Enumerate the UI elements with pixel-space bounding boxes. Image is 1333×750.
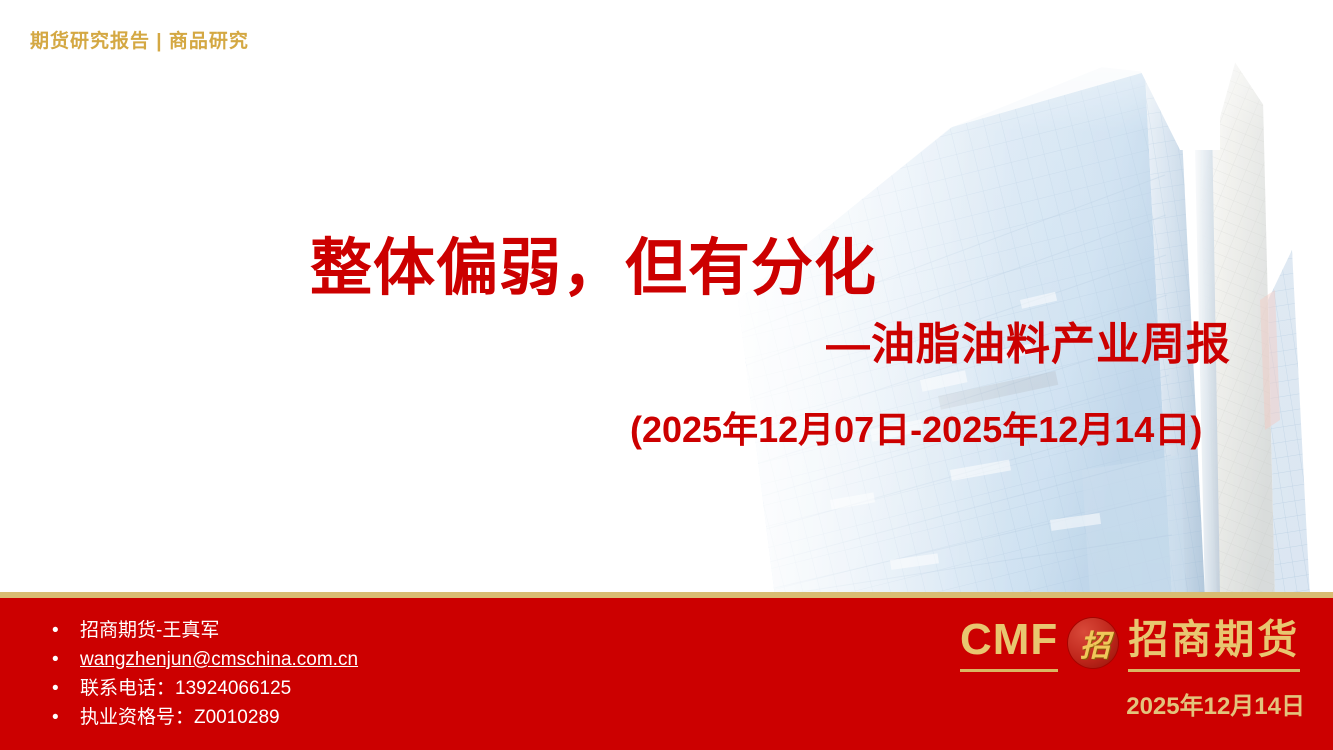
slide-root: 期货研究报告 | 商品研究: [0, 0, 1333, 750]
contact-list: • 招商期货-王真军 • wangzhenjun@cmschina.com.cn…: [46, 616, 358, 732]
bullet-icon: •: [52, 645, 59, 674]
brand-lockup: CMF 招 招商期货 2025年12月14日: [960, 614, 1305, 734]
contact-email-link[interactable]: wangzhenjun@cmschina.com.cn: [80, 649, 358, 670]
cmf-logo-glyph: 招: [1068, 618, 1118, 668]
footer-bar: • 招商期货-王真军 • wangzhenjun@cmschina.com.cn…: [0, 598, 1333, 750]
list-item: • 招商期货-王真军: [46, 616, 358, 645]
cmf-logo-icon: 招: [1068, 618, 1118, 668]
contact-analyst: 招商期货-王真军: [80, 620, 219, 641]
report-category-label: 期货研究报告 | 商品研究: [30, 26, 249, 53]
bullet-icon: •: [52, 703, 59, 732]
brand-cmf-text: CMF: [960, 614, 1058, 672]
bullet-icon: •: [52, 674, 59, 703]
building-photo: 111: [620, 0, 1333, 597]
list-item[interactable]: • wangzhenjun@cmschina.com.cn: [46, 645, 358, 674]
brand-row: CMF 招 招商期货: [960, 614, 1300, 672]
contact-license: 执业资格号：Z0010289: [80, 707, 280, 728]
list-item: • 执业资格号：Z0010289: [46, 703, 358, 732]
svg-text:111: 111: [688, 157, 730, 199]
list-item: • 联系电话：13924066125: [46, 674, 358, 703]
contact-phone: 联系电话：13924066125: [80, 678, 291, 699]
bullet-icon: •: [52, 616, 59, 645]
brand-company-name: 招商期货: [1128, 614, 1300, 672]
publish-date: 2025年12月14日: [1126, 686, 1305, 721]
